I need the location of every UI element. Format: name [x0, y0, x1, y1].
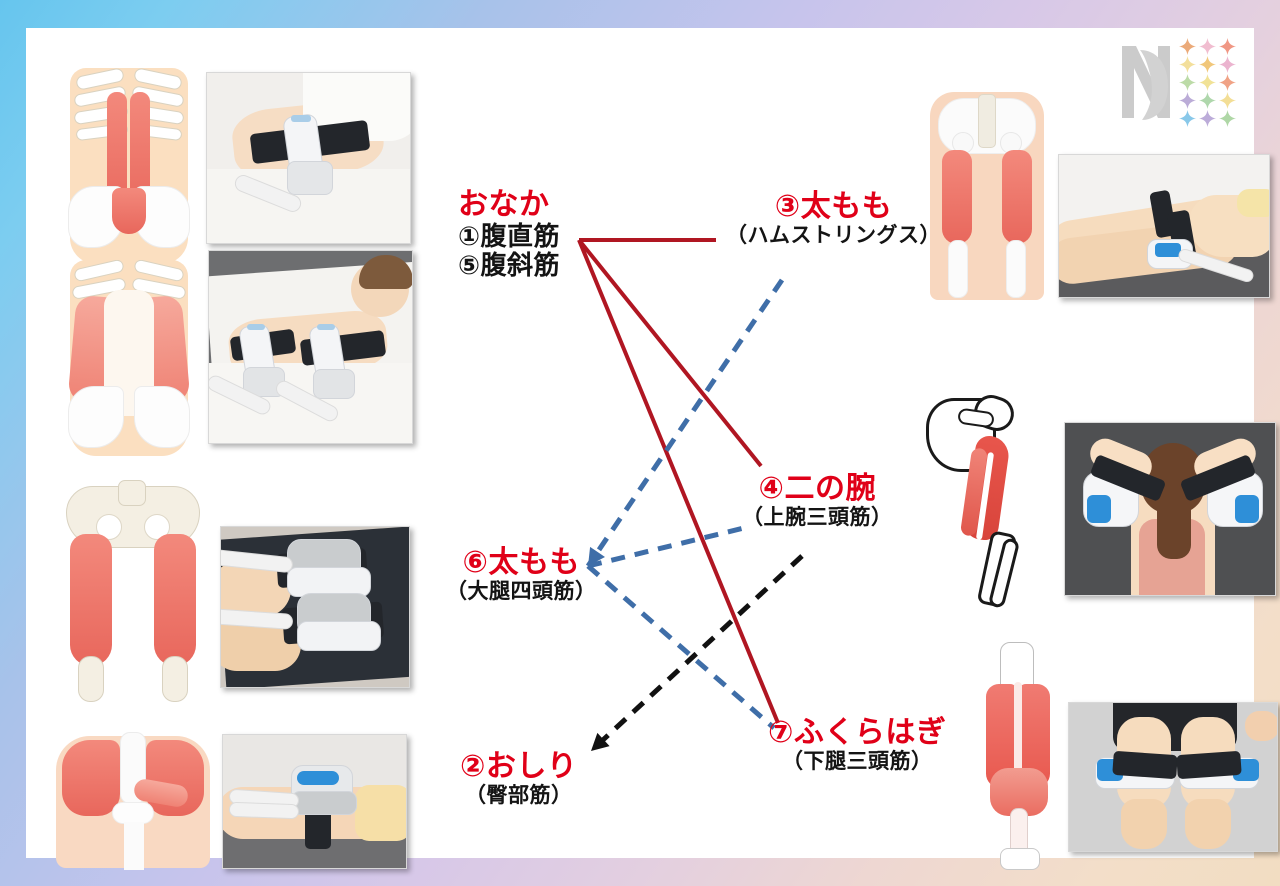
logo-mark-icon — [1118, 40, 1174, 124]
label-futomomo-hamstrings: ③太もも （ハムストリングス） — [726, 190, 941, 247]
label-onaka: おなか ①腹直筋 ⑤腹斜筋 — [458, 188, 560, 280]
photo-thigh-applicators — [220, 526, 410, 688]
label-futomomo-hamstrings-main: ③太もも — [726, 190, 941, 224]
photo-calf-bands — [1068, 702, 1278, 852]
photo-arm-bands — [1064, 422, 1276, 596]
photo-abdomen-single-applicator — [206, 72, 411, 244]
wire-quads-to-fukurahagi — [588, 566, 774, 728]
slide-canvas: おなか ①腹直筋 ⑤腹斜筋 ③太もも （ハムストリングス） ④二の腕 （上腕三頭… — [26, 28, 1254, 858]
logo-cross-icon-r0-c2 — [1218, 38, 1237, 55]
illustration-rectus-abdominis — [46, 68, 211, 264]
photo-abdomen-dual-applicator — [208, 250, 413, 444]
label-futomomo-quads: ⑥太もも （大腿四頭筋） — [446, 546, 597, 603]
label-oshiri-main: ②おしり — [460, 750, 577, 784]
label-onaka-main: おなか — [458, 188, 560, 222]
logo-cross-grid — [1178, 38, 1237, 127]
slide-frame: おなか ①腹直筋 ⑤腹斜筋 ③太もも （ハムストリングス） ④二の腕 （上腕三頭… — [0, 0, 1280, 886]
logo-cross-icon-r2-c2 — [1218, 74, 1237, 91]
logo-cross-icon-r1-c1 — [1198, 56, 1217, 73]
label-futomomo-hamstrings-sub: （ハムストリングス） — [726, 224, 941, 248]
logo-cross-icon-r2-c1 — [1198, 74, 1217, 91]
logo-cross-icon-r0-c1 — [1198, 38, 1217, 55]
logo-cross-icon-r4-c2 — [1218, 110, 1237, 127]
photo-glute-applicator — [222, 734, 407, 869]
label-fukurahagi: ⑦ふくらはぎ （下腿三頭筋） — [768, 716, 946, 773]
photo-hamstring-bands — [1058, 154, 1270, 298]
label-oshiri-sub: （臀部筋） — [460, 784, 577, 808]
illustration-calves — [974, 642, 1066, 874]
label-futomomo-quads-main: ⑥太もも — [446, 546, 597, 580]
illustration-hamstrings — [926, 88, 1048, 304]
label-onaka-line-2: ⑤腹斜筋 — [458, 251, 560, 280]
logo-cross-icon-r4-c1 — [1198, 110, 1217, 127]
label-onaka-line-1: ①腹直筋 — [458, 222, 560, 251]
logo-cross-icon-r2-c0 — [1178, 74, 1197, 91]
wire-onaka-to-ninoude — [579, 240, 761, 466]
illustration-quadriceps — [48, 480, 218, 708]
logo-cross-icon-r3-c0 — [1178, 92, 1197, 109]
illustration-obliques — [46, 260, 211, 456]
logo-cross-icon-r3-c2 — [1218, 92, 1237, 109]
label-ninoude: ④二の腕 （上腕三頭筋） — [742, 472, 893, 529]
illustration-triceps — [922, 392, 1038, 614]
logo-cross-icon-r0-c0 — [1178, 38, 1197, 55]
label-fukurahagi-sub: （下腿三頭筋） — [768, 750, 946, 774]
wire-quads-to-ninoude2 — [588, 528, 744, 566]
logo-cross-icon-r4-c0 — [1178, 110, 1197, 127]
label-fukurahagi-main: ⑦ふくらはぎ — [768, 716, 946, 750]
logo-cross-icon-r3-c1 — [1198, 92, 1217, 109]
logo-cross-icon-r1-c0 — [1178, 56, 1197, 73]
label-futomomo-quads-sub: （大腿四頭筋） — [446, 580, 597, 604]
illustration-gluteal-muscles — [48, 726, 218, 871]
label-oshiri: ②おしり （臀部筋） — [460, 750, 577, 807]
watermark-logo — [1118, 36, 1236, 128]
logo-cross-icon-r1-c2 — [1218, 56, 1237, 73]
label-ninoude-main: ④二の腕 — [742, 472, 893, 506]
label-ninoude-sub: （上腕三頭筋） — [742, 506, 893, 530]
wire-oshiri-to-ninoude-arrowhead — [591, 733, 610, 751]
